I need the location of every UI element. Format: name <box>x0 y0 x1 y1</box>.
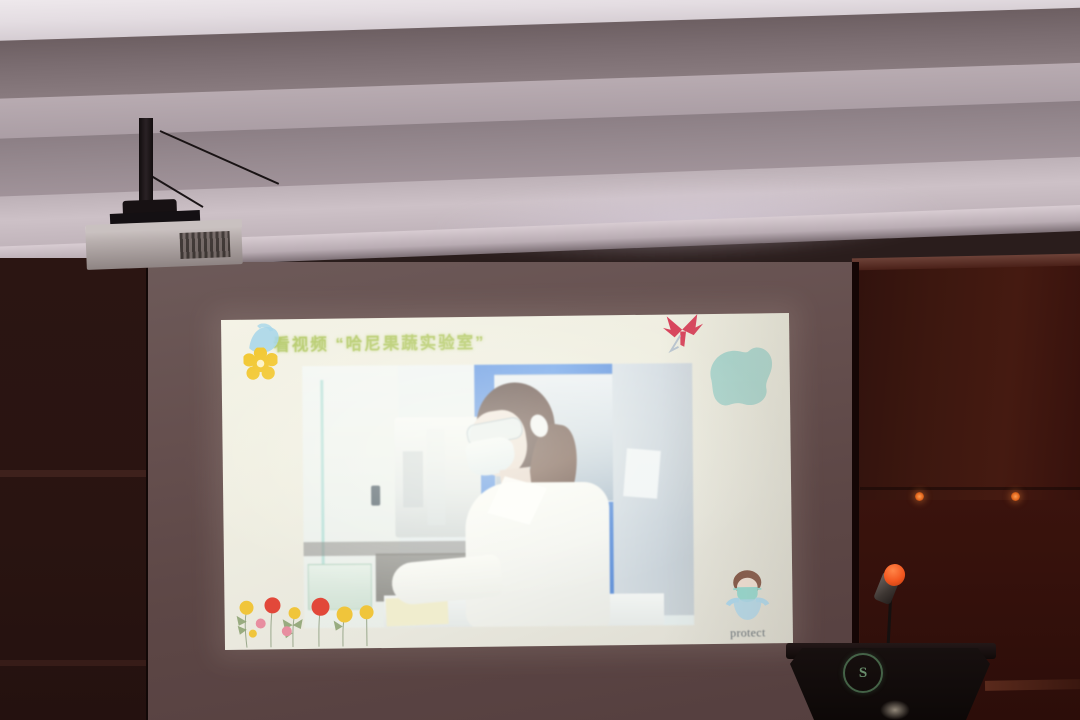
yellow-flower-icon <box>243 347 277 381</box>
podium-highlight <box>880 700 910 720</box>
red-bird-icon <box>659 313 706 357</box>
podium-emblem-letter: S <box>854 663 872 683</box>
projection-screen[interactable]: 看视频 “哈尼果蔬实验室” <box>221 313 793 650</box>
protect-logo: protect <box>716 565 779 640</box>
projector-vent-grille <box>180 231 231 259</box>
protect-caption: protect <box>717 625 779 641</box>
video-instrument-panel <box>403 451 423 507</box>
protect-mascot-icon <box>716 565 779 624</box>
wall-right-panel-line <box>860 487 1080 490</box>
watercolor-flowers-icon <box>230 584 421 648</box>
stage-ledge <box>985 679 1080 691</box>
wall-left <box>0 258 150 720</box>
podium-emblem: S <box>843 653 883 693</box>
wall-light-dot-2 <box>1011 492 1020 501</box>
video-lab-technician <box>452 376 634 627</box>
conference-room-scene: 看视频 “哈尼果蔬实验室” <box>0 0 1080 720</box>
wall-left-panel-line-2 <box>0 660 148 666</box>
slide-title: 看视频 “哈尼果蔬实验室” <box>273 329 485 356</box>
wall-left-panel-line-1 <box>0 470 148 477</box>
wall-light-dot-1 <box>915 492 924 501</box>
teal-leaf-icon <box>701 341 778 414</box>
slide-surface: 看视频 “哈尼果蔬实验室” <box>221 313 793 650</box>
video-instrument-column <box>427 429 446 525</box>
video-wall-phone <box>371 486 380 506</box>
